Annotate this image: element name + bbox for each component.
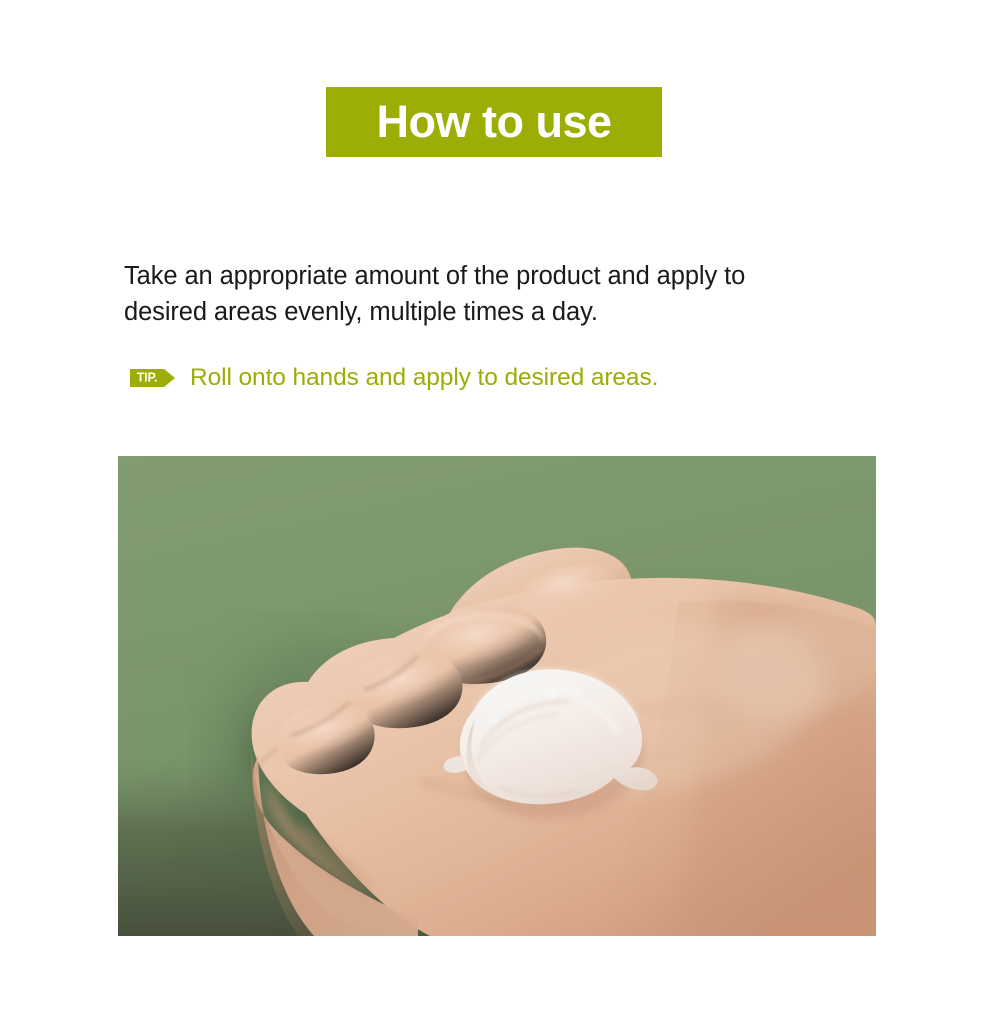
instruction-line-2: desired areas evenly, multiple times a d…	[124, 294, 884, 330]
product-usage-photo	[118, 456, 876, 936]
instruction-line-1: Take an appropriate amount of the produc…	[124, 258, 884, 294]
tip-badge-label: TIP.	[137, 372, 158, 385]
tip-row: TIP. Roll onto hands and apply to desire…	[130, 366, 658, 391]
page-title-banner: How to use	[326, 87, 662, 157]
tip-text: Roll onto hands and apply to desired are…	[190, 366, 658, 391]
instruction-text-block: Take an appropriate amount of the produc…	[124, 258, 884, 330]
hand-with-cream-illustration	[118, 456, 876, 936]
page-title: How to use	[376, 99, 611, 144]
tip-badge-icon: TIP.	[130, 369, 164, 387]
